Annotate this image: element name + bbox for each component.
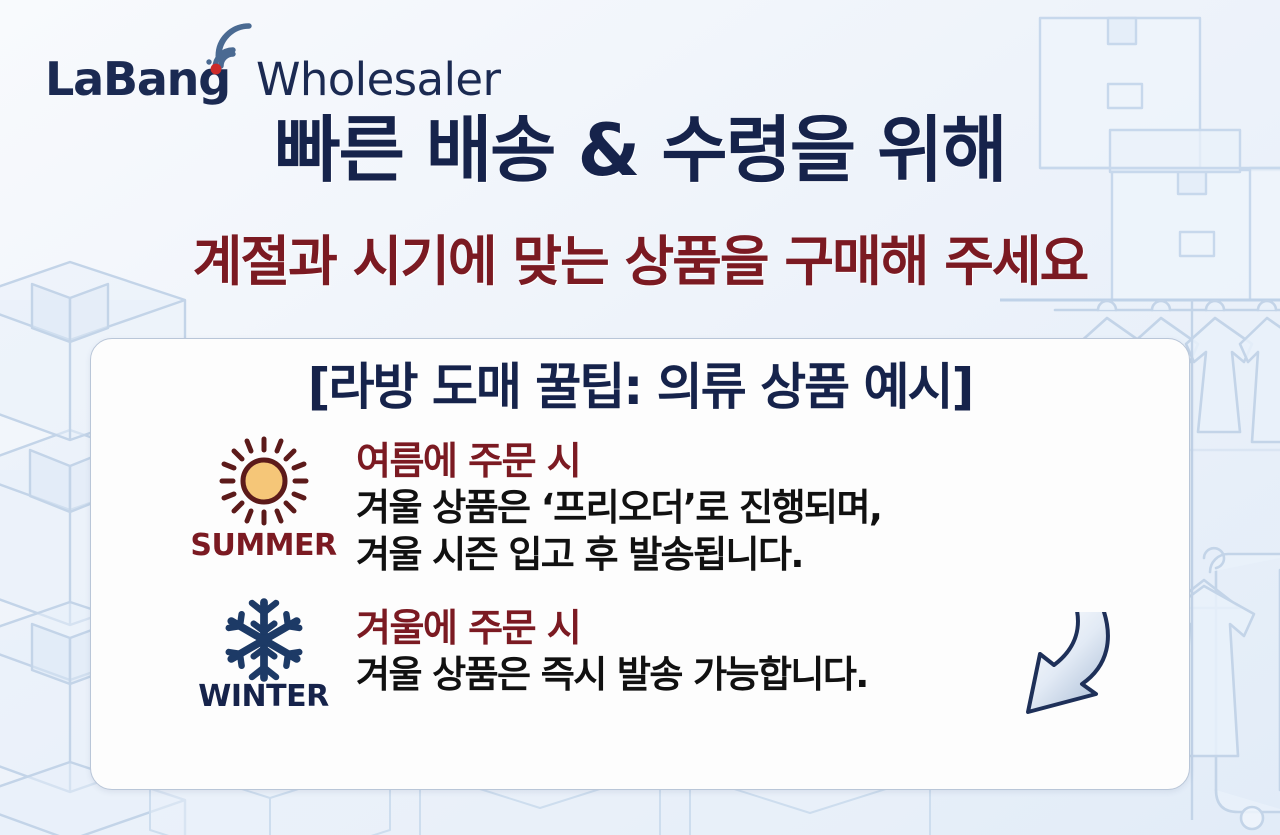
sun-icon-wrap [216, 436, 312, 526]
page-headline: 빠른 배송 & 수령을 위해 [0, 114, 1280, 186]
snowflake-icon-wrap [221, 603, 307, 677]
brand-logo-text-wrap: LaBang Wholesaler [45, 56, 500, 102]
brand-name-bold: LaBang [45, 56, 230, 102]
poster-canvas: LaBang Wholesaler [0, 0, 1280, 835]
season-row-winter: WINTER 겨울에 주문 시 겨울 상품은 즉시 발송 가능합니다. [91, 603, 1189, 714]
brand-logo: LaBang Wholesaler [45, 22, 500, 102]
season-icon-col-winter: WINTER [171, 603, 356, 714]
season-label-summer: SUMMER [190, 528, 336, 563]
season-body-summer-line2: 겨울 시즌 입고 후 발송됩니다. [356, 532, 1189, 579]
season-icon-col-summer: SUMMER [171, 436, 356, 563]
wifi-dot-icon [211, 64, 222, 75]
tips-card: [라방 도매 꿀팁: 의류 상품 예시] [90, 338, 1190, 790]
page-subheadline: 계절과 시기에 맞는 상품을 구매해 주세요 [0, 235, 1280, 289]
season-label-winter: WINTER [198, 679, 328, 714]
season-row-summer: SUMMER 여름에 주문 시 겨울 상품은 ‘프리오더’로 진행되며, 겨울 … [91, 436, 1189, 579]
sun-icon [216, 433, 312, 529]
season-text-col-summer: 여름에 주문 시 겨울 상품은 ‘프리오더’로 진행되며, 겨울 시즌 입고 후… [356, 436, 1189, 579]
season-heading-winter: 겨울에 주문 시 [356, 605, 1189, 653]
season-heading-summer: 여름에 주문 시 [356, 438, 1189, 486]
season-body-summer-line1: 겨울 상품은 ‘프리오더’로 진행되며, [356, 485, 1189, 532]
brand-name-light: Wholesaler [256, 57, 500, 102]
wifi-signal-icon [205, 22, 267, 76]
season-text-col-winter: 겨울에 주문 시 겨울 상품은 즉시 발송 가능합니다. [356, 603, 1189, 699]
snowflake-icon [221, 597, 307, 683]
tips-card-title: [라방 도매 꿀팁: 의류 상품 예시] [91, 361, 1189, 414]
season-body-winter-line1: 겨울 상품은 즉시 발송 가능합니다. [356, 652, 1189, 699]
